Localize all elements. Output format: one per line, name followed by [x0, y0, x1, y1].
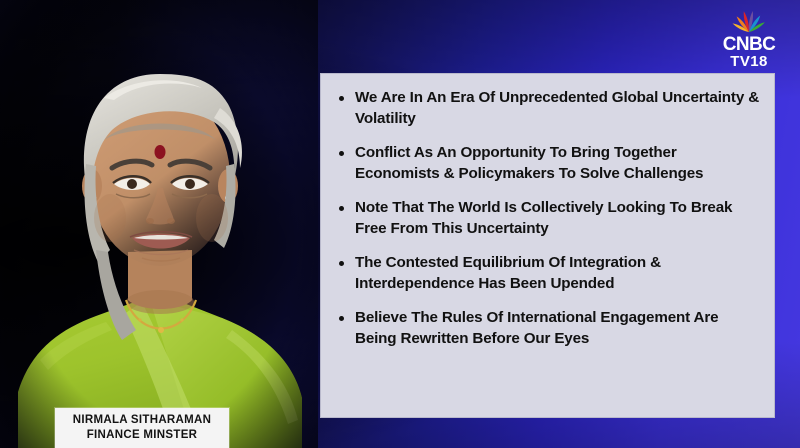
bullet-dot-icon: [339, 151, 344, 156]
channel-logo-name: CNBC: [723, 35, 776, 54]
headline-bullet: Note That The World Is Collectively Look…: [333, 198, 760, 239]
headline-panel: We Are In An Era Of Unprecedented Global…: [320, 73, 775, 418]
headline-bullet: The Contested Equilibrium Of Integration…: [333, 253, 760, 294]
headline-bullet: Conflict As An Opportunity To Bring Toge…: [333, 143, 760, 184]
speaker-portrait-illustration: [0, 0, 318, 448]
bullet-dot-icon: [339, 96, 344, 101]
bullet-dot-icon: [339, 316, 344, 321]
headline-bullet-text: We Are In An Era Of Unprecedented Global…: [355, 89, 759, 127]
headline-bullet-text: Believe The Rules Of International Engag…: [355, 309, 718, 347]
headline-bullet-text: Conflict As An Opportunity To Bring Toge…: [355, 144, 703, 182]
bullet-dot-icon: [339, 261, 344, 266]
headline-bullet-text: Note That The World Is Collectively Look…: [355, 199, 732, 237]
portrait-edge-fade: [0, 0, 318, 448]
bullet-dot-icon: [339, 206, 344, 211]
channel-logo: CNBC TV18: [710, 6, 788, 70]
channel-logo-sub: TV18: [730, 54, 767, 70]
speaker-designation: FINANCE MINSTER: [87, 428, 198, 443]
speaker-portrait: [0, 0, 318, 448]
headline-bullet: Believe The Rules Of International Engag…: [333, 308, 760, 349]
speaker-nameplate: NIRMALA SITHARAMAN FINANCE MINSTER: [55, 408, 229, 448]
peacock-icon: [727, 6, 771, 34]
headline-bullet-list: We Are In An Era Of Unprecedented Global…: [333, 88, 760, 349]
broadcast-screen: NIRMALA SITHARAMAN FINANCE MINSTER We Ar…: [0, 0, 800, 448]
headline-bullet-text: The Contested Equilibrium Of Integration…: [355, 254, 661, 292]
speaker-name: NIRMALA SITHARAMAN: [73, 413, 212, 428]
headline-bullet: We Are In An Era Of Unprecedented Global…: [333, 88, 760, 129]
